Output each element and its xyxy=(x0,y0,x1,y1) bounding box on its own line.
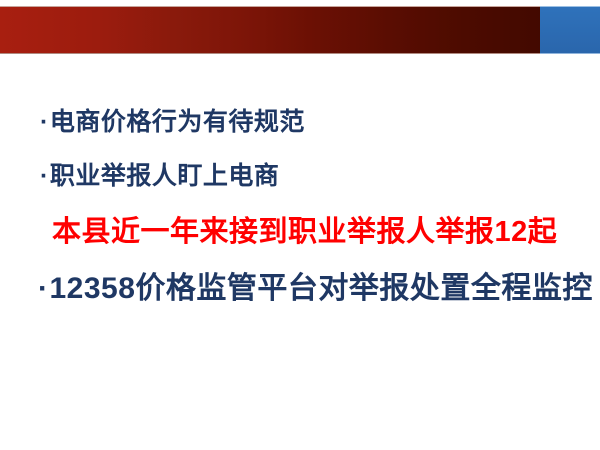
banner-blue-accent-block xyxy=(540,6,600,54)
bullet-marker-icon: · xyxy=(40,162,49,190)
bullet-line-4-text: 12358价格监管平台对举报处置全程监控 xyxy=(50,272,593,305)
slide-body-text: · 电商价格行为有待规范 · 职业举报人盯上电商 本县近一年来接到职业举报人举报… xyxy=(0,108,600,305)
bullet-line-3-text: 本县近一年来接到职业举报人举报12起 xyxy=(52,216,557,248)
bullet-line-2: · 职业举报人盯上电商 xyxy=(0,162,600,190)
bullet-line-1-text: 电商价格行为有待规范 xyxy=(50,108,305,136)
bullet-marker-icon: · xyxy=(38,272,49,305)
bullet-line-3-highlight: 本县近一年来接到职业举报人举报12起 xyxy=(0,216,600,248)
header-banner xyxy=(0,6,600,54)
bullet-line-4: · 12358价格监管平台对举报处置全程监控 xyxy=(0,272,600,305)
banner-red-gradient-block xyxy=(0,6,540,54)
slide-canvas: · 电商价格行为有待规范 · 职业举报人盯上电商 本县近一年来接到职业举报人举报… xyxy=(0,0,600,450)
bullet-line-2-text: 职业举报人盯上电商 xyxy=(50,162,280,190)
bullet-marker-icon: · xyxy=(40,108,49,136)
bullet-line-1: · 电商价格行为有待规范 xyxy=(0,108,600,136)
